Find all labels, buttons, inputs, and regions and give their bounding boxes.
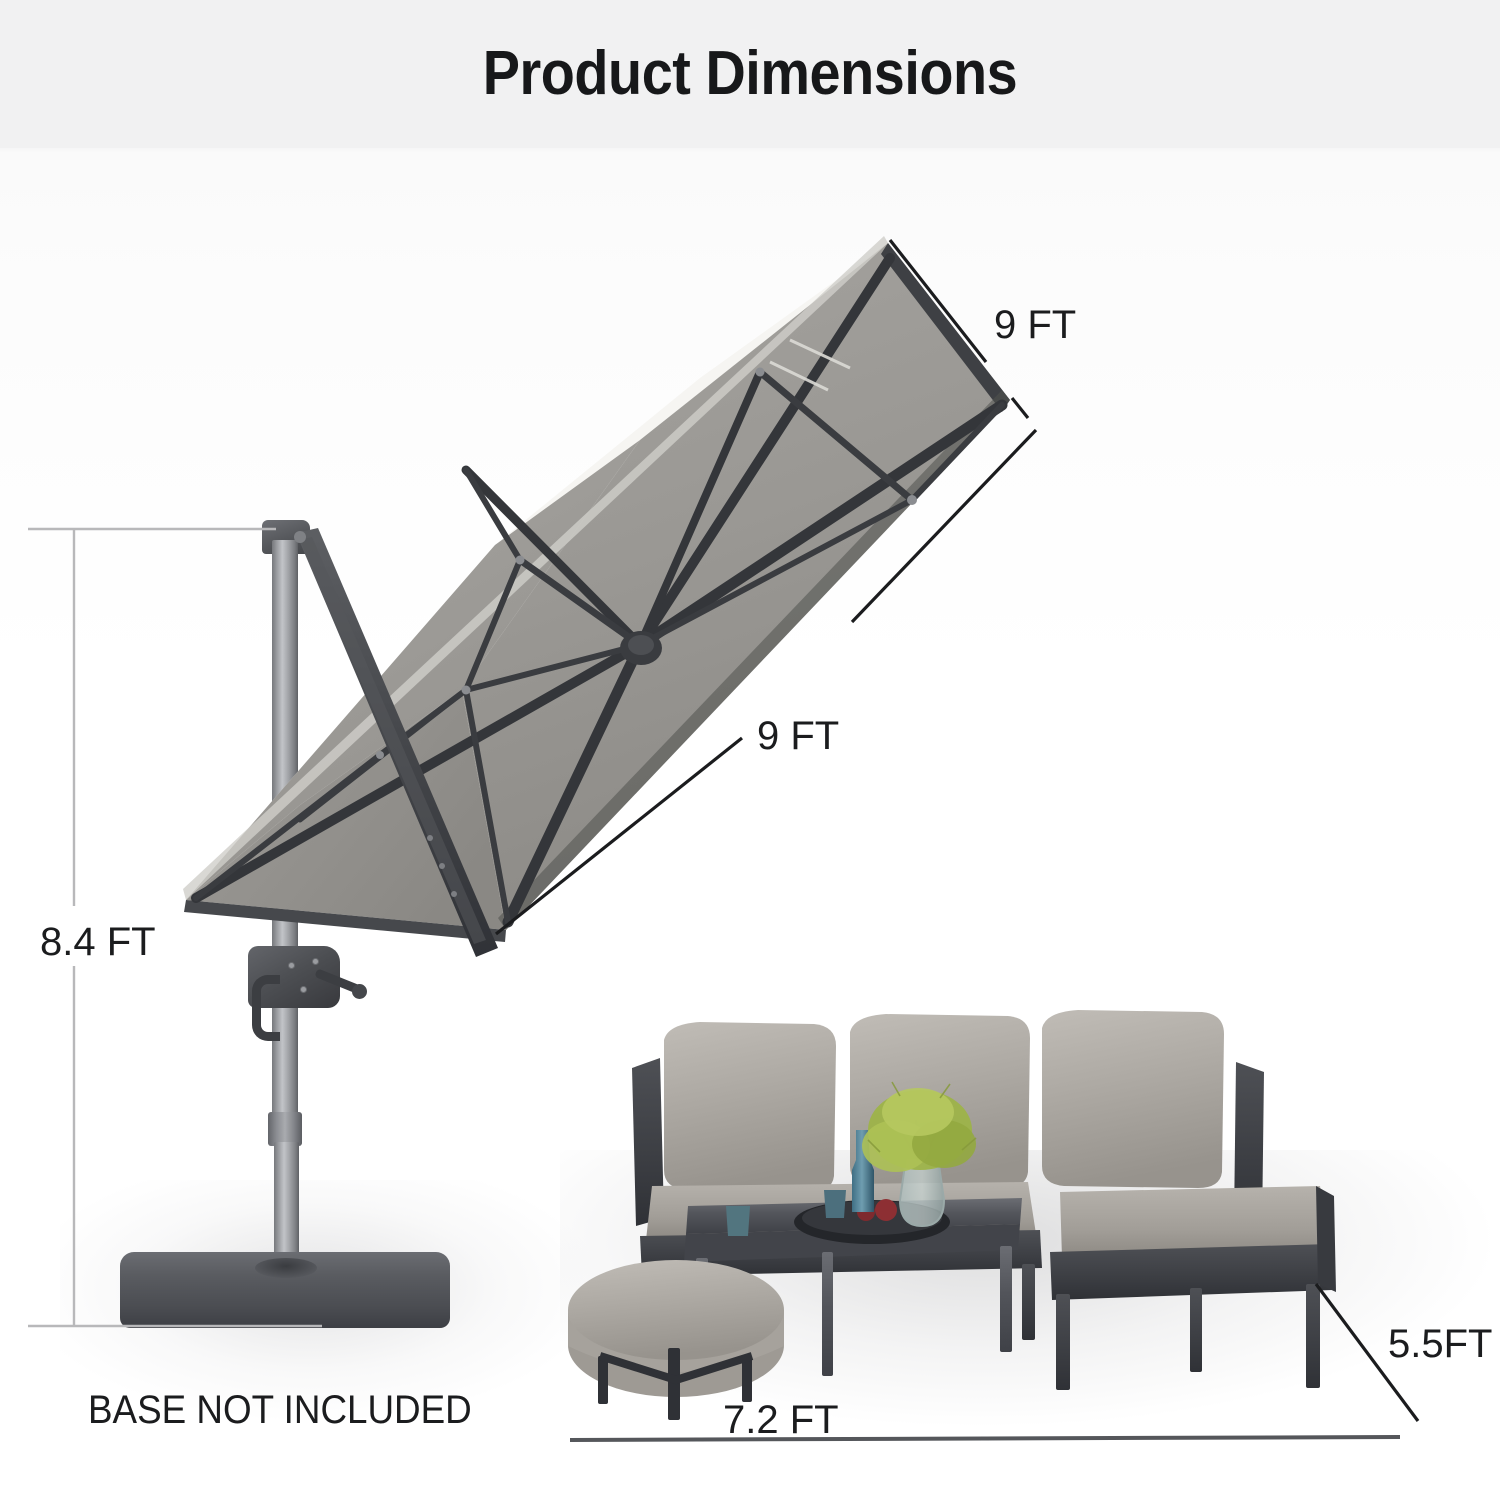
housing-screw-icon [300,986,307,993]
crank-knob [352,984,367,999]
product-dimensions-diagram: Product Dimensions [0,0,1500,1500]
dimension-label-canopy-top: 9 FT [994,303,1076,348]
dimension-label-sofa-width: 7.2 FT [723,1398,839,1443]
hinge-screw-icon [300,531,307,538]
base-pole-socket [255,1258,317,1278]
crank-handle-icon [252,975,280,1041]
base-not-included-note: BASE NOT INCLUDED [88,1388,472,1433]
dimension-label-sofa-depth: 5.5FT [1388,1322,1492,1367]
cantilever-umbrella [0,0,1500,1500]
umbrella-pole-joint [268,1112,302,1146]
housing-screw-icon [288,962,295,969]
dimension-label-height: 8.4 FT [40,920,156,965]
housing-screw-icon [312,958,319,965]
dimension-label-canopy-side: 9 FT [757,714,839,759]
